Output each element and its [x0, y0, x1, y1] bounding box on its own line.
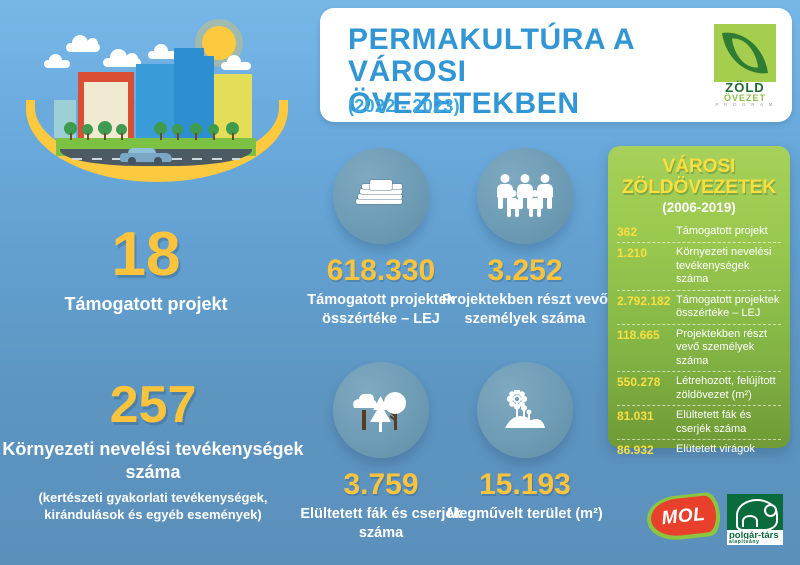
polgar-tars-logo: polgár-társ alapítvány [727, 494, 783, 544]
circle-stat-participants: 3.252 Projektekben részt vevő személyek … [440, 148, 610, 329]
bird-icon [727, 494, 783, 532]
tree-icon [98, 121, 112, 140]
row-label: Támogatott projekt [676, 225, 768, 239]
row-value: 1.210 [617, 246, 676, 260]
row-label: Támogatott projektek összértéke – LEJ [676, 294, 781, 321]
row-value: 118.665 [617, 328, 676, 342]
table-row: 2.792.182 Támogatott projektek összérték… [617, 290, 781, 324]
city-skyline-illustration [8, 8, 308, 186]
row-label: Környezeti nevelési tevékenységek száma [676, 246, 781, 287]
table-row: 362 Támogatott projekt [617, 222, 781, 242]
row-label: Elültetett fák és cserjék száma [676, 409, 781, 436]
logo-program-label: P R O G R A M [714, 102, 776, 107]
table-row: 1.210 Környezeti nevelési tevékenységek … [617, 242, 781, 290]
infographic-canvas: PERMAKULTÚRA A VÁROSI ÖVEZETEKBEN (2022 … [0, 0, 800, 565]
row-value: 2.792.182 [617, 294, 676, 308]
row-value: 550.278 [617, 375, 676, 389]
row-label: Projektekben részt vevő személyek száma [676, 328, 781, 369]
tree-icon [190, 123, 202, 140]
row-label: Létrehozott, felújított zöldövezet (m²) [676, 375, 781, 402]
stat-value: 18 [0, 224, 292, 286]
stat-caption: Projektekben részt vevő személyek száma [440, 291, 610, 329]
panel-period: (2006-2019) [608, 200, 790, 215]
stat-value: 3.252 [440, 254, 610, 288]
trees-icon [350, 386, 412, 434]
stat-supported-projects: 18 Támogatott projekt [0, 224, 292, 315]
tree-icon [208, 124, 219, 140]
cloud-icon [221, 62, 251, 70]
icon-circle [477, 362, 573, 458]
car-icon [120, 148, 172, 164]
leaf-icon [714, 24, 776, 82]
stat-value: 15.193 [440, 468, 610, 502]
tree-icon [226, 122, 239, 140]
cloud-icon [44, 60, 70, 68]
page-title-line1: PERMAKULTÚRA A [348, 24, 698, 56]
header-card: PERMAKULTÚRA A VÁROSI ÖVEZETEKBEN (2022 … [320, 8, 792, 122]
icon-circle [333, 148, 429, 244]
icon-circle [477, 148, 573, 244]
cloud-icon [66, 43, 100, 52]
stat-value: 257 [0, 378, 306, 432]
table-row: 550.278 Létrehozott, felújított zöldövez… [617, 371, 781, 405]
stat-education-activities: 257 Környezeti nevelési tevékenységek sz… [0, 378, 306, 523]
mol-logo: MOL [647, 495, 720, 539]
tree-icon [82, 124, 93, 140]
row-value: 81.031 [617, 409, 676, 423]
stat-label: Támogatott projekt [0, 294, 292, 315]
table-row: 118.665 Projektekben részt vevő személye… [617, 324, 781, 372]
zold-ovezet-logo: ZÖLD ÖVEZET P R O G R A M [714, 24, 776, 106]
circle-stat-area: 15.193 Megművelt terület (m²) [440, 362, 610, 524]
tree-icon [64, 122, 77, 140]
stat-label: Környezeti nevelési tevékenységek száma [0, 438, 306, 484]
row-label: Elütetett virágok [676, 443, 755, 457]
table-row: 86.932 Elütetett virágok [617, 439, 781, 460]
tree-icon [154, 122, 167, 140]
people-group-icon [495, 174, 555, 218]
stat-caption: Megművelt terület (m²) [440, 505, 610, 524]
historical-stats-panel: VÁROSI ZÖLDÖVEZETEK (2006-2019) 362 Támo… [608, 146, 790, 448]
panel-rows: 362 Támogatott projekt 1.210 Környezeti … [608, 222, 790, 460]
flower-field-icon [503, 390, 547, 430]
panel-title: VÁROSI ZÖLDÖVEZETEK [608, 146, 790, 198]
row-value: 362 [617, 225, 676, 239]
panel-title-line2: ZÖLDÖVEZETEK [608, 177, 790, 198]
money-stack-icon [356, 179, 406, 213]
tree-icon [116, 124, 127, 140]
polgar-tars-subtext: alapítvány [727, 539, 783, 545]
icon-circle [333, 362, 429, 458]
panel-title-line1: VÁROSI [608, 156, 790, 177]
table-row: 81.031 Elültetett fák és cserjék száma [617, 405, 781, 439]
tree-icon [172, 124, 183, 140]
period-subtitle: (2022 - 2023) [348, 96, 460, 117]
row-value: 86.932 [617, 443, 676, 457]
stat-note: (kertészeti gyakorlati tevékenységek, ki… [0, 489, 306, 523]
